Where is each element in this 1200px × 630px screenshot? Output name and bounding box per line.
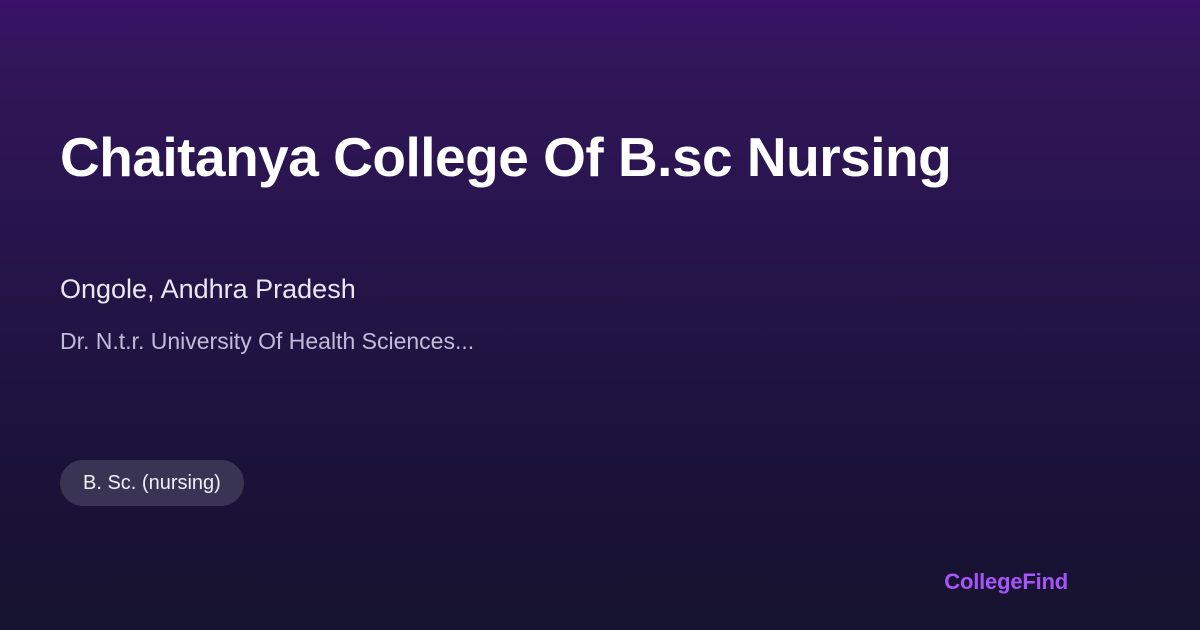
college-preview-card: Chaitanya College Of B.sc Nursing Ongole…: [0, 0, 1200, 630]
card-content: Chaitanya College Of B.sc Nursing Ongole…: [60, 0, 1140, 630]
college-location: Ongole, Andhra Pradesh: [60, 272, 356, 306]
college-affiliation: Dr. N.t.r. University Of Health Sciences…: [60, 326, 474, 356]
brand-logo-text: CollegeFind: [944, 569, 1068, 595]
program-tag: B. Sc. (nursing): [60, 460, 244, 506]
program-tag-list: B. Sc. (nursing): [60, 460, 244, 506]
page-title: Chaitanya College Of B.sc Nursing: [60, 124, 951, 190]
